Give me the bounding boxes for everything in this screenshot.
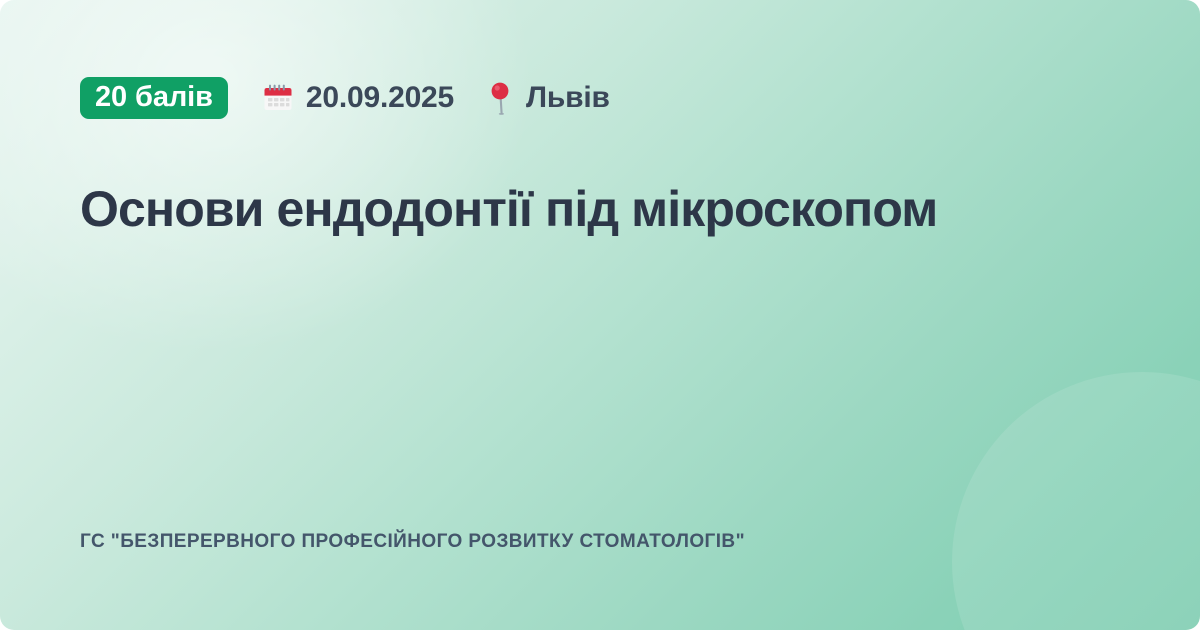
points-badge: 20 балів	[80, 77, 228, 119]
page-title: Основи ендодонтії під мікроскопом	[80, 179, 1090, 239]
meta-row: 20 балів	[80, 74, 1120, 122]
organizer-label: ГС "БЕЗПЕРЕРВНОГО ПРОФЕСІЙНОГО РОЗВИТКУ …	[80, 531, 745, 553]
spiral-calendar-icon	[262, 82, 294, 114]
location-value: Львів	[526, 81, 610, 115]
event-share-card: 20 балів	[0, 0, 1200, 630]
round-pushpin-icon	[488, 81, 514, 115]
date-meta-item: 20.09.2025	[262, 81, 454, 115]
location-meta-item: Львів	[488, 81, 610, 115]
date-value: 20.09.2025	[306, 81, 454, 115]
